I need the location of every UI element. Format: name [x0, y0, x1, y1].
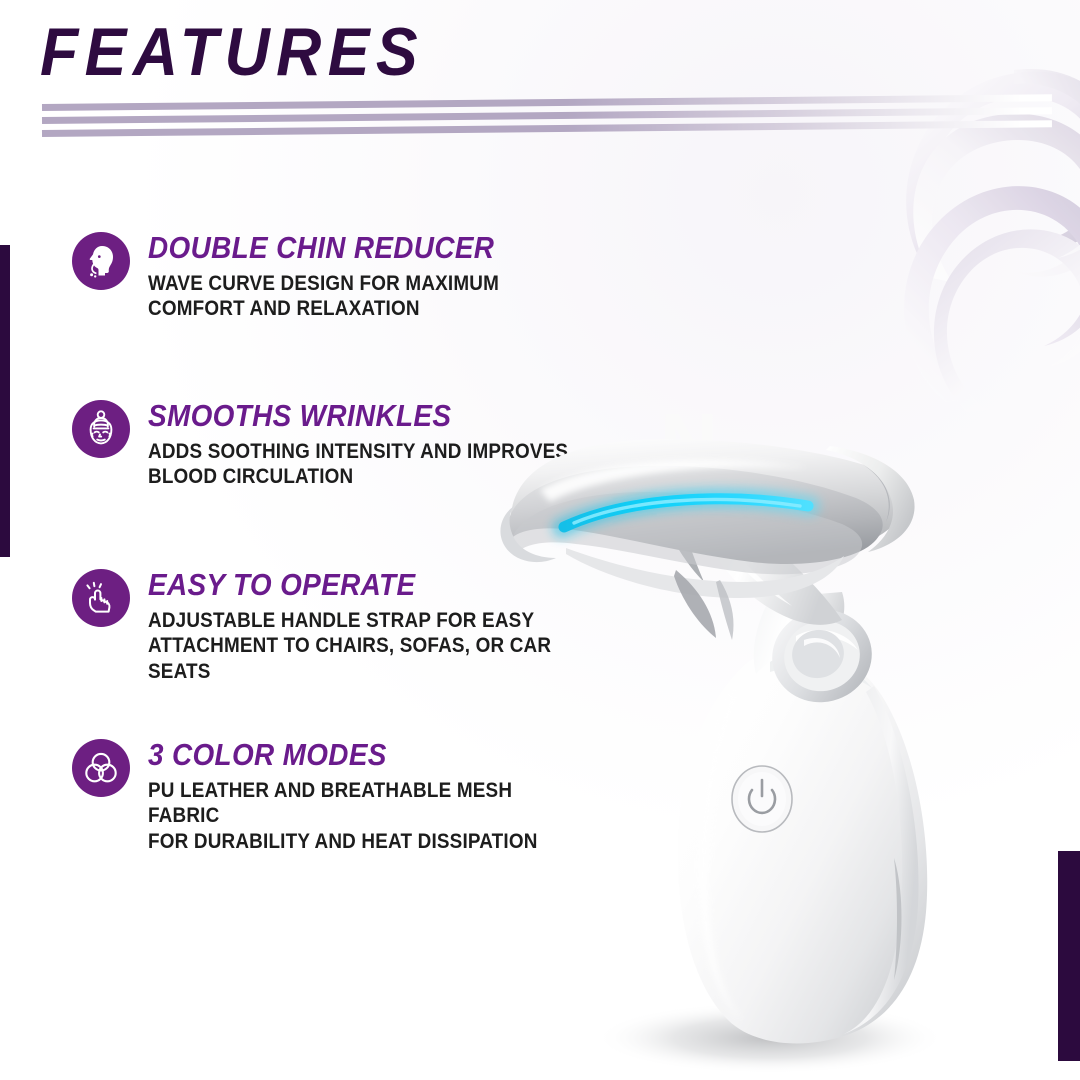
- title-underline-rules: [42, 104, 1052, 144]
- left-accent-bar: [0, 245, 10, 557]
- tap-hand-pointer-icon: [72, 569, 130, 627]
- wrinkled-face-icon: [72, 400, 130, 458]
- feature-item-double-chin-reducer: DOUBLE CHIN REDUCER WAVE CURVE DESIGN FO…: [72, 230, 538, 322]
- face-profile-chin-icon: [72, 232, 130, 290]
- teardrop-handle-body: [678, 647, 927, 1044]
- feature-title: DOUBLE CHIN REDUCER: [148, 232, 499, 265]
- page-title: FEATURES: [40, 18, 610, 86]
- title-block: FEATURES: [40, 18, 660, 86]
- three-overlapping-circles-icon: [72, 739, 130, 797]
- curved-treatment-head: [500, 439, 914, 640]
- power-button[interactable]: [732, 766, 792, 832]
- title-rule-2: [42, 107, 1052, 124]
- feature-description: WAVE CURVE DESIGN FOR MAXIMUM COMFORT AN…: [148, 271, 499, 322]
- title-rule-3: [42, 120, 1052, 137]
- feature-text-block: DOUBLE CHIN REDUCER WAVE CURVE DESIGN FO…: [148, 230, 538, 322]
- neck-and-face-lifting-device: [470, 420, 1080, 1080]
- title-rule-1: [42, 94, 1052, 111]
- infographic-page: FEATURES: [0, 0, 1080, 1080]
- abstract-torus-swirl: [800, 10, 1080, 430]
